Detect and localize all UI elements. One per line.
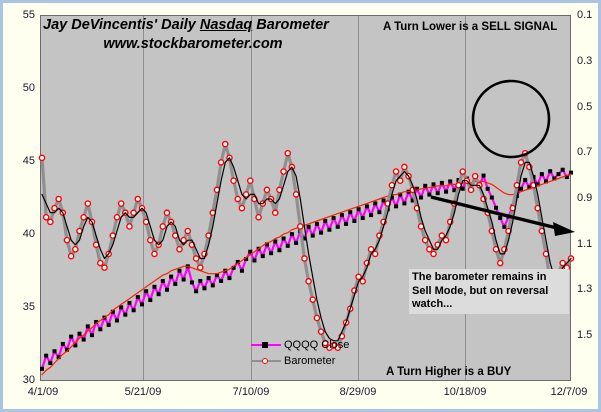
y2-axis-tick: 1.1 [577,239,601,250]
legend-swatch-barometer [251,355,281,367]
x-axis-tick: 7/10/09 [216,387,286,398]
y2-axis-tick: 1.5 [577,330,601,341]
annotation-layer [41,16,572,382]
legend-label: Barometer [284,355,335,367]
x-axis-tick: 5/21/09 [108,387,178,398]
y-axis-tick: 30 [5,375,35,386]
chart-legend: QQQQ Close Barometer [251,337,349,369]
x-axis-tick: 8/29/09 [323,387,393,398]
y-axis-tick: 45 [5,156,35,167]
plot-area [40,15,571,381]
status-note-annotation: The barometer remains in Sell Mode, but … [409,269,569,314]
legend-item-qqqq-close: QQQQ Close [251,337,349,353]
y2-axis-tick: 0.9 [577,193,601,204]
buy-signal-annotation: A Turn Higher is a BUY [386,366,511,378]
y2-axis-tick: 1.3 [577,284,601,295]
y2-axis-tick: 0.1 [577,10,601,21]
chart-frame: 55 50 45 40 35 30 0.1 0.3 0.5 0.7 0.9 1.… [0,0,601,412]
legend-item-barometer: Barometer [251,353,349,369]
title-underlined: Nasdaq [200,17,252,33]
y2-axis-tick: 0.3 [577,56,601,67]
y-axis-tick: 40 [5,229,35,240]
title-prefix: Jay DeVincentis' Daily [43,17,200,33]
y2-axis-tick: 0.5 [577,102,601,113]
chart-subtitle: www.stockbarometer.com [43,36,343,52]
legend-label: QQQQ Close [284,339,349,351]
chart-title: Jay DeVincentis' Daily Nasdaq Barometer [43,17,393,33]
y2-axis-tick: 0.7 [577,147,601,158]
highlight-ellipse [473,81,549,157]
x-axis-tick: 4/1/09 [8,387,78,398]
title-suffix: Barometer [252,17,329,33]
pointer-arrow [431,197,575,236]
y-axis-tick: 35 [5,302,35,313]
sell-signal-annotation: A Turn Lower is a SELL SIGNAL [383,21,557,33]
legend-swatch-qqqq-close [251,339,281,351]
y-axis-tick: 50 [5,83,35,94]
y-axis-tick: 55 [5,10,35,21]
x-axis-tick: 12/7/09 [534,387,601,398]
x-axis-tick: 10/18/09 [430,387,500,398]
